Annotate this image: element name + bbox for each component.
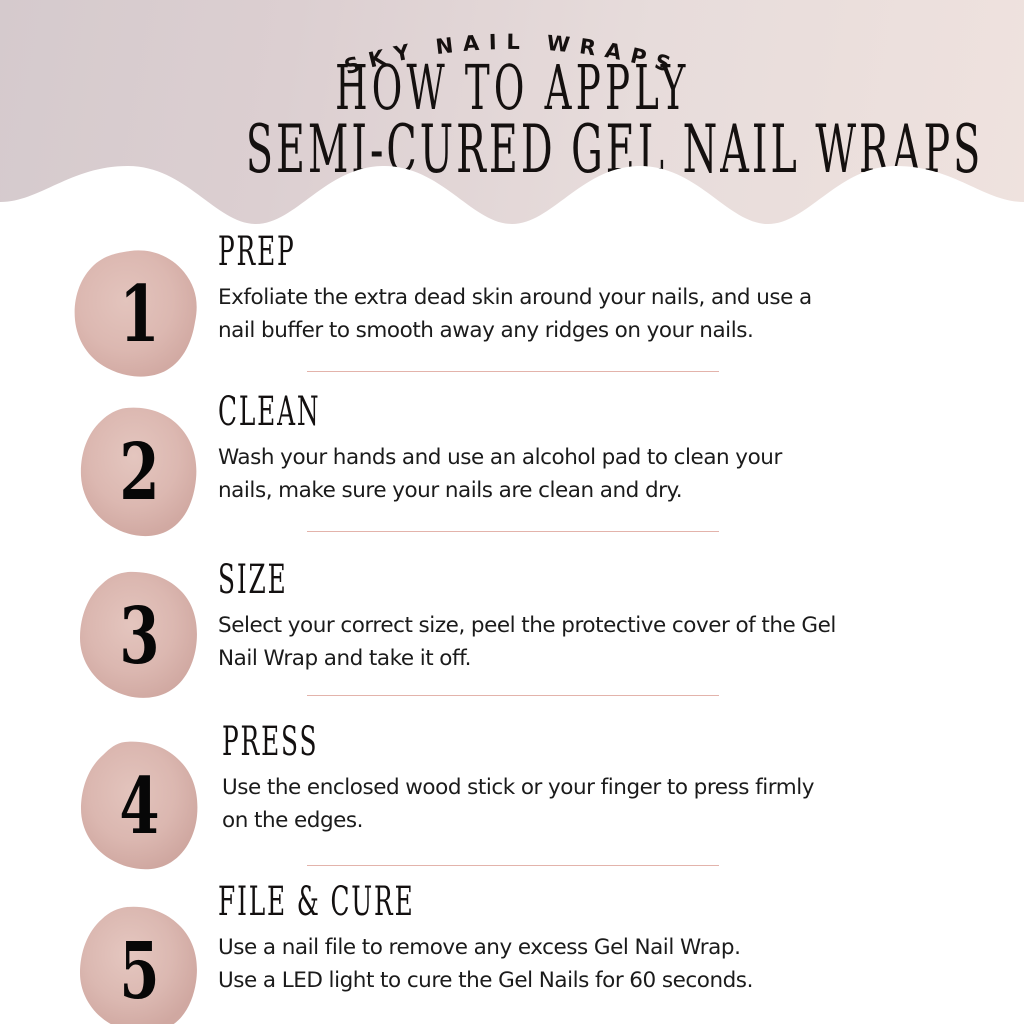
- step-description-2: Wash your hands and use an alcohol pad t…: [218, 442, 978, 507]
- step-description-1: Exfoliate the extra dead skin around you…: [218, 282, 978, 347]
- step-content-4: PRESS Use the enclosed wood stick or you…: [222, 722, 982, 837]
- step-divider-1: [307, 371, 719, 372]
- steps-list: 1 PREP Exfoliate the extra dead skin aro…: [0, 232, 1024, 1024]
- step-number-badge-2: 2: [68, 406, 208, 538]
- step-title-3: SIZE: [218, 560, 988, 600]
- step-number-label-4: 4: [86, 740, 190, 872]
- step-number-label-5: 5: [86, 905, 190, 1024]
- step-title-1: PREP: [218, 232, 978, 272]
- step-number-label-1: 1: [86, 248, 190, 380]
- step-description-4: Use the enclosed wood stick or your fing…: [222, 772, 982, 837]
- step-number-label-3: 3: [86, 570, 190, 702]
- step-number-badge-1: 1: [68, 248, 208, 380]
- step-number-badge-5: 5: [68, 905, 208, 1024]
- step-content-1: PREP Exfoliate the extra dead skin aroun…: [218, 232, 978, 347]
- step-title-5: FILE & CURE: [218, 882, 998, 922]
- step-content-2: CLEAN Wash your hands and use an alcohol…: [218, 392, 978, 507]
- step-number-badge-3: 3: [68, 570, 208, 702]
- infographic-canvas: SKY NAIL WRAPS HOW TO APPLY SEMI-CURED G…: [0, 0, 1024, 1024]
- step-number-badge-4: 4: [68, 740, 208, 872]
- headline-line-1: HOW TO APPLY: [0, 57, 1024, 119]
- step-number-label-2: 2: [86, 406, 190, 538]
- header-banner: SKY NAIL WRAPS HOW TO APPLY SEMI-CURED G…: [0, 0, 1024, 232]
- step-title-2: CLEAN: [218, 392, 978, 432]
- wave-divider-shape: [0, 162, 1024, 232]
- step-divider-4: [307, 865, 719, 866]
- step-divider-2: [307, 531, 719, 532]
- step-description-5: Use a nail file to remove any excess Gel…: [218, 932, 998, 997]
- step-content-5: FILE & CURE Use a nail file to remove an…: [218, 882, 998, 997]
- step-description-3: Select your correct size, peel the prote…: [218, 610, 988, 675]
- step-divider-3: [307, 695, 719, 696]
- step-title-4: PRESS: [222, 722, 982, 762]
- headline-line-1-text: HOW TO APPLY: [335, 57, 689, 119]
- step-content-3: SIZE Select your correct size, peel the …: [218, 560, 988, 675]
